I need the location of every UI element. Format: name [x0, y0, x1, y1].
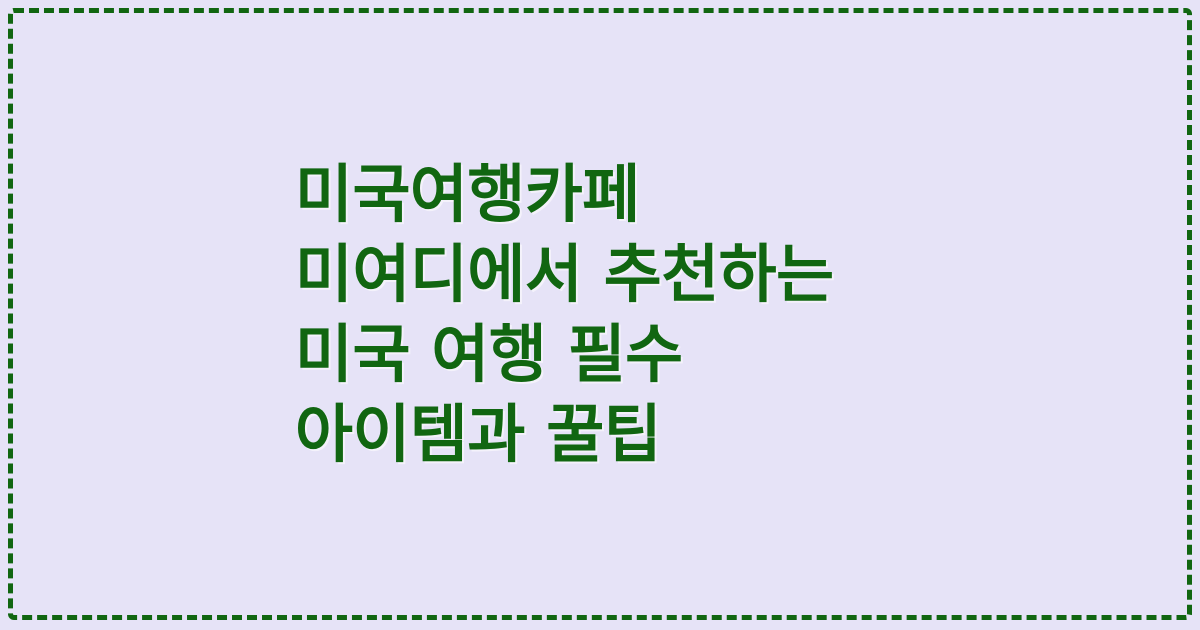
headline-container: 미국여행카페 미여디에서 추천하는 미국 여행 필수 아이템과 꿀팁: [0, 0, 1200, 630]
thumbnail-card: 미국여행카페 미여디에서 추천하는 미국 여행 필수 아이템과 꿀팁: [0, 0, 1200, 630]
headline-text: 미국여행카페 미여디에서 추천하는 미국 여행 필수 아이템과 꿀팁: [0, 155, 894, 475]
